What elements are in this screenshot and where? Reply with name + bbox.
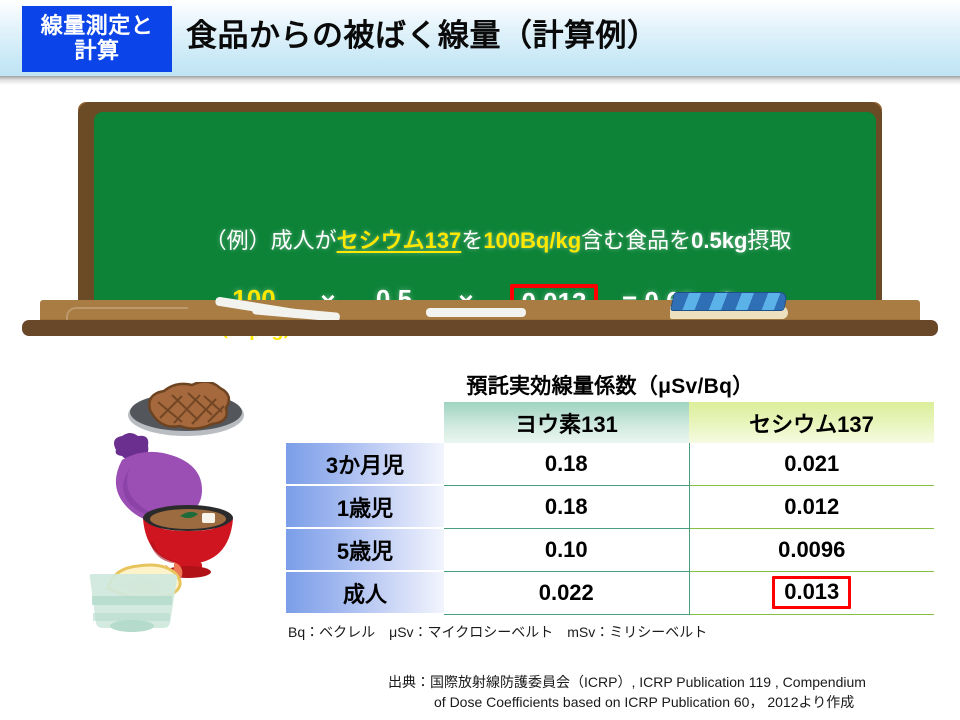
cell-iodine131-5-years: 0.10 xyxy=(444,528,689,571)
shrimp-tempura-bowl-icon xyxy=(89,562,182,632)
dose-coefficient-table: ヨウ素131 セシウム137 3か月児 0.18 0.021 1歳児 0.18 … xyxy=(286,402,934,615)
blackboard-example-sentence: （例）成人がセシウム137を100Bq/kg含む食品を0.5kg摂取 xyxy=(118,223,878,255)
food-illustration xyxy=(78,382,293,632)
blackboard-eraser-icon xyxy=(670,292,788,318)
chalk-tray-surface xyxy=(40,300,920,322)
example-nuclide: セシウム137 xyxy=(337,228,462,253)
source-line-1: 出典：国際放射線防護委員会（ICRP）, ICRP Publication 11… xyxy=(388,674,866,690)
eraser-body xyxy=(670,292,788,311)
table-row: 5歳児 0.10 0.0096 xyxy=(286,528,934,571)
row-label-adult: 成人 xyxy=(286,571,444,614)
cell-cesium137-3-months: 0.021 xyxy=(689,443,934,485)
example-amount: 0.5kg xyxy=(691,228,747,253)
cell-cesium137-1-year: 0.012 xyxy=(689,485,934,528)
table-row: 3か月児 0.18 0.021 xyxy=(286,443,934,485)
table-row: 成人 0.022 0.013 xyxy=(286,571,934,614)
page-title: 食品からの被ばく線量（計算例） xyxy=(186,10,659,55)
cell-cesium137-adult-highlight-box: 0.013 xyxy=(772,576,851,609)
table-row: 1歳児 0.18 0.012 xyxy=(286,485,934,528)
example-suffix: 摂取 xyxy=(747,228,791,253)
chalk-stick-icon xyxy=(426,308,526,317)
badge-label-line2: 計算 xyxy=(74,39,119,64)
table-title: 預託実効線量係数（μSv/Bq） xyxy=(300,370,920,400)
row-label-3-months: 3か月児 xyxy=(286,443,444,485)
cell-iodine131-3-months: 0.18 xyxy=(444,443,689,485)
source-citation: 出典：国際放射線防護委員会（ICRP）, ICRP Publication 11… xyxy=(388,672,866,713)
cell-cesium137-5-years: 0.0096 xyxy=(689,528,934,571)
example-middle: 含む食品を xyxy=(581,228,691,253)
header-shadow-divider xyxy=(0,76,960,85)
table-header-cesium137: セシウム137 xyxy=(689,402,934,443)
table-header-iodine131: ヨウ素131 xyxy=(444,402,689,443)
example-concentration: 100Bq/kg xyxy=(483,228,581,253)
cell-cesium137-adult: 0.013 xyxy=(689,571,934,614)
table-header-blank xyxy=(286,402,444,443)
grilled-steak-on-plate-icon xyxy=(128,382,244,436)
badge-label-line1: 線量測定と xyxy=(41,14,154,39)
table-header-row: ヨウ素131 セシウム137 xyxy=(286,402,934,443)
source-line-2: of Dose Coefficients based on ICRP Publi… xyxy=(388,692,866,712)
example-prefix: （例）成人が xyxy=(205,228,337,253)
cell-iodine131-adult: 0.022 xyxy=(444,571,689,614)
blackboard: （例）成人がセシウム137を100Bq/kg含む食品を0.5kg摂取 100 （… xyxy=(22,98,938,338)
example-particle: を xyxy=(461,228,483,253)
row-label-5-years: 5歳児 xyxy=(286,528,444,571)
chalk-tray-front xyxy=(22,320,938,336)
blackboard-chalk-tray xyxy=(22,300,938,336)
unit-legend-note: Bq：ベクレル μSv：マイクロシーベルト mSv：ミリシーベルト xyxy=(288,622,707,642)
header-category-badge: 線量測定と 計算 xyxy=(22,6,172,72)
cell-iodine131-1-year: 0.18 xyxy=(444,485,689,528)
row-label-1-year: 1歳児 xyxy=(286,485,444,528)
